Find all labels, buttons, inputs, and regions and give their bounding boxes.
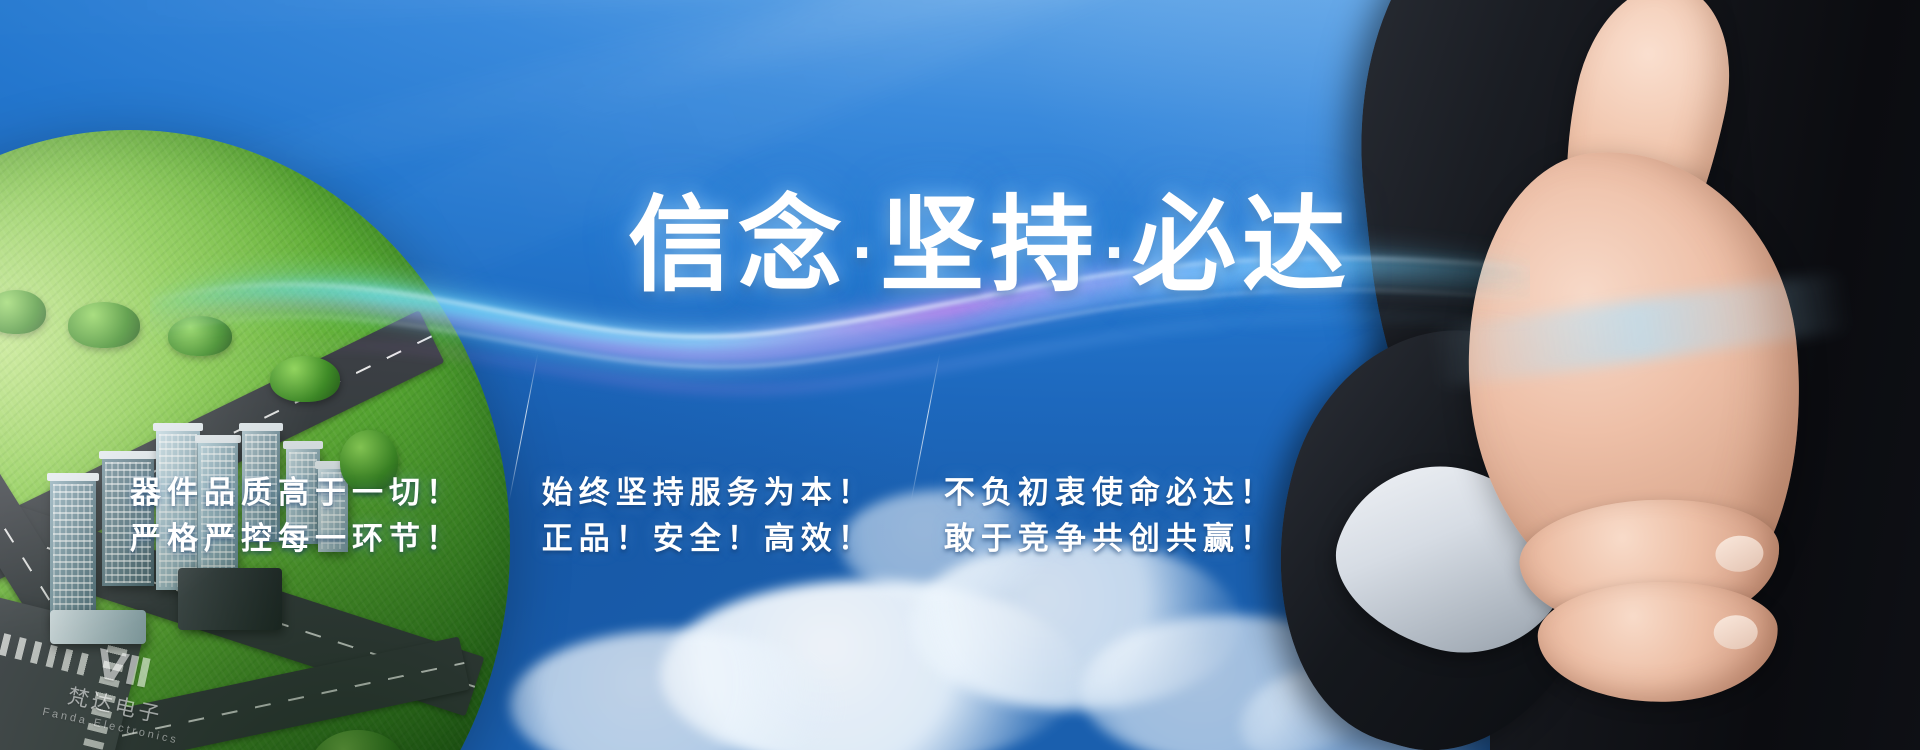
headline-separator: ·: [1100, 213, 1132, 293]
slogan-3-line-1: 不负初衷使命必达！: [944, 470, 1310, 516]
slogan-divider: [908, 352, 944, 502]
headline-part-2: 坚持: [880, 188, 1100, 304]
headline: 信念·坚持·必达: [0, 192, 1920, 300]
slogan-row: 器件品质高于一切！ 严格严控每一环节！ 始终坚持服务为本！ 正品！安全！高效！ …: [130, 470, 1310, 580]
headline-part-3: 必达: [1132, 188, 1352, 304]
slogan-1-line-2: 严格严控每一环节！: [130, 516, 506, 562]
outstretched-hand: [1370, 0, 1890, 710]
slogan-3-line-2: 敢于竞争共创共赢！: [944, 516, 1310, 562]
slogan-column-2: 始终坚持服务为本！ 正品！安全！高效！: [542, 470, 908, 562]
headline-separator: ·: [848, 213, 880, 293]
headline-part-1: 信念: [628, 188, 848, 304]
slogan-2-line-2: 正品！安全！高效！: [542, 516, 908, 562]
businessman-handshake-photo: [1220, 0, 1920, 750]
slogan-2-line-1: 始终坚持服务为本！: [542, 470, 908, 516]
slogan-column-1: 器件品质高于一切！ 严格严控每一环节！: [130, 470, 506, 562]
slogan-divider: [506, 352, 542, 502]
slogan-column-3: 不负初衷使命必达！ 敢于竞争共创共赢！: [944, 470, 1310, 562]
slogan-1-line-1: 器件品质高于一切！: [130, 470, 506, 516]
banner-stage: on Ⅶ 梵达电子 Fanda Electronics: [0, 0, 1920, 750]
